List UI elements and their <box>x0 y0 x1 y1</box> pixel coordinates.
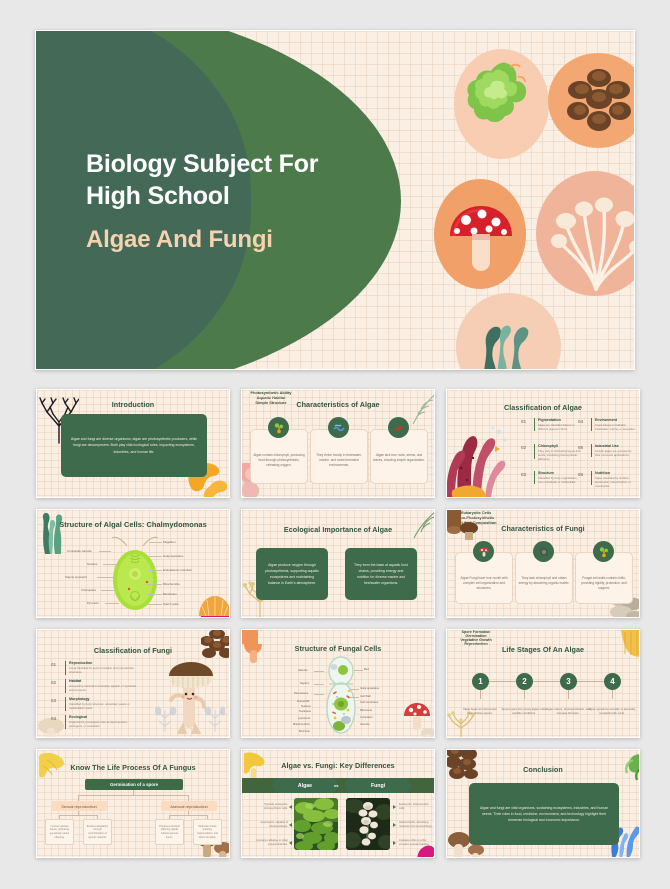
hero-title-line1: Biology Subject For <box>86 149 318 181</box>
leader-line <box>350 689 359 690</box>
label-cytoplasm: Cytoplasm <box>360 716 373 719</box>
flow-branch-asexual: Asexual reproduction <box>161 801 217 811</box>
card-2-body: They lack chlorophyll and obtain energy … <box>518 576 570 586</box>
slide-title: Characteristics of Fungi <box>447 524 639 533</box>
fungi-point-1: Eukaryotic, heterotrophic cells. <box>399 803 433 811</box>
label-ribosome: Ribosome <box>360 709 372 712</box>
slide-title: Structure of Algal Cells: Chalmydomonas <box>37 520 229 529</box>
item-4-number: 04 <box>51 716 56 721</box>
red-mushroom-icon <box>473 541 494 562</box>
step-2-stem <box>524 690 525 699</box>
label-fungi: Fungi <box>345 778 411 793</box>
flow-leaf-1: Involves gamete fusion, producing geneti… <box>45 819 74 845</box>
fungi-point-3: Contains chitin or other complex polysac… <box>399 839 433 847</box>
flow-root: Germination of a spore <box>85 779 183 790</box>
label-algae: Algae <box>272 778 338 793</box>
slide-characteristics-of-algae[interactable]: Characteristics of Algae Photosynthetic … <box>241 389 435 498</box>
dark-spore-icon <box>533 541 554 562</box>
label-septum: Septum <box>300 682 309 685</box>
flow-branch-sexual: Sexual reproduction <box>51 801 107 811</box>
slide-title: Algae vs. Fungi: Key Differences <box>242 761 434 770</box>
label-chloroplast: Chloroplast <box>81 588 96 592</box>
hero-title-line2: High School <box>86 181 318 213</box>
arrow-icon <box>289 805 292 809</box>
step-3-circle: 3 <box>560 673 577 690</box>
item-1-body: Fungi classified by spore formation and … <box>69 666 141 674</box>
item-1-number: 01 <box>51 662 56 667</box>
flow-line <box>78 795 189 796</box>
slide-title: Characteristics of Algae <box>242 400 434 409</box>
leader-line <box>101 590 117 591</box>
slide-life-process-of-a-fungus[interactable]: Know The Life Process Of A Fungus Germin… <box>36 749 230 858</box>
step-3-stem <box>568 690 569 699</box>
slide-introduction[interactable]: Introduction Algae and fungi are diverse… <box>36 389 230 498</box>
leader-line <box>97 577 115 578</box>
slide-title: Classification of Algae <box>447 403 639 412</box>
step-4-circle: 4 <box>604 673 621 690</box>
label-pyrenoid: Pyrenoid <box>87 601 98 605</box>
leader-line <box>149 542 162 543</box>
step-1-circle: 1 <box>472 673 489 690</box>
sprout-icon <box>593 541 614 562</box>
item-4-number: 04 <box>578 419 583 424</box>
item-4-rule <box>591 418 592 431</box>
item-5-body: Certain algae are grouped for their econ… <box>595 449 637 457</box>
leader-line <box>149 570 162 571</box>
item-4-heading: Ecological <box>69 715 87 719</box>
presentation-preview-page: Biology Subject For High School Algae An… <box>0 0 670 889</box>
item-3-number: 03 <box>521 472 526 477</box>
red-toadstool-mushroom-icon <box>446 194 516 276</box>
slide-title: Ecological Importance of Algae <box>242 525 434 534</box>
item-6-number: 06 <box>578 472 583 477</box>
label-round-er: Round ER <box>297 700 309 703</box>
item-1-rule <box>65 661 66 675</box>
leader-line <box>147 584 162 585</box>
intro-text-box: Algae and fungi are diverse organisms; a… <box>61 414 207 477</box>
label-cell-wall: Cell Wall <box>360 695 371 698</box>
item-5-heading: Industrial Use <box>595 444 619 448</box>
green-algae-leaf-icon <box>466 59 538 149</box>
item-1-number: 01 <box>521 419 526 424</box>
label-bud-scar: Bud Scar <box>299 730 310 733</box>
label-cell-membrane: Cell membrane <box>360 701 378 704</box>
leader-line <box>354 670 363 671</box>
label-membrane: Membrane <box>163 592 177 596</box>
arrow-icon <box>393 805 396 809</box>
hero-title: Biology Subject For High School <box>86 149 318 212</box>
leader-line <box>149 556 162 557</box>
leader-line <box>314 694 324 695</box>
item-6-heading: Nutrition <box>595 471 610 475</box>
flow-leaf-2: Enables adaptation through recombination… <box>83 819 112 845</box>
eco-box-1: Algae produce oxygen through photosynthe… <box>256 548 328 600</box>
card-1-body: Algae contain chlorophyll, producing foo… <box>253 453 305 468</box>
item-3-body: Classified by body organization, from un… <box>538 476 581 484</box>
leader-line <box>105 603 119 604</box>
step-4-body: Algae reproduce sexually or asexually, c… <box>587 707 637 716</box>
enoki-mushroom-cluster-icon <box>544 181 635 293</box>
item-2-rule <box>534 444 535 459</box>
label-nucleolus: Nucleolus <box>299 710 311 713</box>
arrow-icon <box>289 823 292 827</box>
red-seaweed-coral-icon <box>446 412 521 498</box>
label-starch-grain: Starch grain <box>163 602 179 606</box>
step-3-body: Algae mature, photosynthesize, and incre… <box>543 707 593 716</box>
leader-line <box>147 604 162 605</box>
green-frond-icon <box>405 392 435 426</box>
label-er: Endoplasmic reticulum <box>163 568 192 572</box>
step-4-stem <box>612 690 613 699</box>
item-3-heading: Structure <box>538 471 554 475</box>
sprout-icon <box>268 417 289 438</box>
item-3-heading: Morphology <box>69 697 90 701</box>
item-3-rule <box>534 471 535 484</box>
card-1-body: Algae Fungi have true nuclei with comple… <box>458 576 510 591</box>
step-1-stem <box>480 690 481 699</box>
timeline-connector <box>481 681 609 682</box>
chlamydomonas-cell-diagram <box>107 534 163 614</box>
slide-classification-of-algae[interactable]: Classification of Algae 01 Pigmentation … <box>446 389 640 498</box>
label-peroxisome: Peroxisome <box>294 692 308 695</box>
label-nucleus: Nucleus <box>87 562 97 566</box>
label-contractile-vacuole: Contractile vacuole <box>67 549 92 553</box>
item-3-number: 03 <box>51 698 56 703</box>
fungi-point-2: Heterotrophic, absorbing nutrients from … <box>399 821 433 829</box>
item-2-rule <box>65 679 66 693</box>
slide-ecological-importance-of-algae[interactable]: Ecological Importance of Algae Algae pro… <box>241 509 435 618</box>
algae-point-3: Contains cellulose or other polysacchari… <box>250 839 288 847</box>
item-4-heading: Environment <box>595 418 617 422</box>
hero-slide[interactable]: Biology Subject For High School Algae An… <box>35 30 635 370</box>
leader-line <box>99 551 111 552</box>
arrow-icon <box>393 823 396 827</box>
slide-classification-of-fungi[interactable]: Classification of Fungi 01 Reproduction … <box>36 629 230 738</box>
item-1-rule <box>534 418 535 431</box>
red-toadstool-mushroom-icon <box>402 700 435 738</box>
item-5-number: 05 <box>578 445 583 450</box>
card-3-body: Fungal cell walls contain chitin, provid… <box>578 576 630 591</box>
leader-line <box>103 564 117 565</box>
label-vacuole: Vacuole <box>298 669 308 672</box>
item-2-number: 02 <box>51 680 56 685</box>
label-nucleus: Nucleus <box>301 705 311 708</box>
item-4-body: Types based on habitats: freshwater, mar… <box>595 423 637 431</box>
slide-title: Classification of Fungi <box>37 646 229 655</box>
leader-line <box>350 697 359 698</box>
step-2-circle: 2 <box>516 673 533 690</box>
algae-point-1: Typically eukaryotic, photosynthetic cel… <box>250 803 288 811</box>
item-5-rule <box>591 444 592 457</box>
item-3-body: Classified by body structure: unicellula… <box>69 702 141 710</box>
slide-conclusion[interactable]: Conclusion Algae and fungi are vital org… <box>446 749 640 858</box>
simple-filament-icon <box>388 417 409 438</box>
flow-line <box>59 815 98 816</box>
eco-box-2: They form the base of aquatic food chain… <box>345 548 417 600</box>
slide-life-stages-of-an-algae[interactable]: Life Stages Of An Algae 1 Spore Formatio… <box>446 629 640 738</box>
label-vacuole-2: Vacuole <box>360 723 370 726</box>
item-2-heading: Habitat <box>69 679 81 683</box>
hero-text-block: Biology Subject For High School Algae An… <box>86 149 318 254</box>
fungal-cell-diagram <box>324 656 358 734</box>
conclusion-text-box: Algae and fungi are vital organisms, sus… <box>469 783 619 845</box>
leader-line <box>314 671 324 672</box>
item-2-number: 02 <box>521 445 526 450</box>
mushroom-character-icon <box>155 658 225 736</box>
seaweed-icon <box>468 303 550 370</box>
label-flagellum: Flagellum <box>163 540 176 544</box>
card-3-body: Algae lack true roots, stems, and leaves… <box>373 453 425 463</box>
slide-structure-of-algal-cells[interactable]: Structure of Algal Cells: Chalmydomonas … <box>36 509 230 618</box>
flow-line <box>169 815 208 816</box>
slide-title: Introduction <box>37 400 229 409</box>
label-golgi: Golgi apparatus <box>163 554 183 558</box>
hero-subtitle: Algae And Fungi <box>86 226 318 254</box>
slide-algae-vs-fungi[interactable]: Algae vs. Fungi: Key Differences Algae v… <box>241 749 435 858</box>
label-bud: Bud <box>364 668 369 671</box>
item-3-rule <box>65 697 66 711</box>
slide-title: Structure of Fungal Cells <box>242 644 434 653</box>
slide-characteristics-of-fungi[interactable]: Characteristics of Fungi Eukaryotic Cell… <box>446 509 640 618</box>
step-2-body: Spores grow into young algae under suita… <box>499 707 549 716</box>
algae-point-2: Autotrophic, capable of photosynthesis. <box>250 821 288 829</box>
step-1-body: Algae begin as microscopic reproductive … <box>455 707 505 716</box>
item-1-heading: Pigmentation <box>538 418 561 422</box>
slide-title: Conclusion <box>447 765 639 774</box>
green-seaweed-icon <box>37 512 67 554</box>
slide-title: Life Stages Of An Algae <box>447 645 639 654</box>
label-lysosome: Lysosome <box>298 717 310 720</box>
label-mitochondria: Mitochondria <box>163 582 180 586</box>
water-wave-icon <box>328 417 349 438</box>
algae-photo <box>294 798 338 850</box>
item-4-rule <box>65 715 66 729</box>
item-4-body: Organized by ecological roles as decompo… <box>69 720 141 728</box>
label-stigma: Stigma (eyespot) <box>65 575 87 579</box>
slide-structure-of-fungal-cells[interactable]: Structure of Fungal Cells Vacuole Septum… <box>241 629 435 738</box>
leader-line <box>147 594 162 595</box>
item-2-body: Grouped by survival in terrestrial, aqua… <box>69 684 141 692</box>
arrow-icon <box>393 841 396 845</box>
arrow-icon <box>289 841 292 845</box>
flow-leaf-3: Produces identical offspring rapidly wit… <box>155 819 184 845</box>
item-6-rule <box>591 471 592 485</box>
magenta-fan-coral-icon <box>197 586 230 618</box>
vs-label: vs <box>334 783 338 788</box>
item-2-heading: Chlorophyll <box>538 444 558 448</box>
label-mitochondrion: Mitochondrion <box>293 723 310 726</box>
fungi-photo <box>346 798 390 850</box>
pinecone-icon <box>563 66 635 136</box>
flow-leaf-4: Methods include budding, fragmentation, … <box>193 819 222 845</box>
item-6-body: Algae classified by nutrition: autotroph… <box>595 476 637 489</box>
slide-title: Know The Life Process Of A Fungus <box>37 763 229 772</box>
card-2-body: They thrive mostly in freshwater, marine… <box>313 453 365 468</box>
item-2-body: They vary in chlorophyll types and level… <box>538 449 581 462</box>
leader-line <box>314 684 324 685</box>
label-golgi: Golgi apparatus <box>360 687 379 690</box>
item-1-heading: Reproduction <box>69 661 92 665</box>
item-1-body: Algae are classified based on different … <box>538 423 581 431</box>
